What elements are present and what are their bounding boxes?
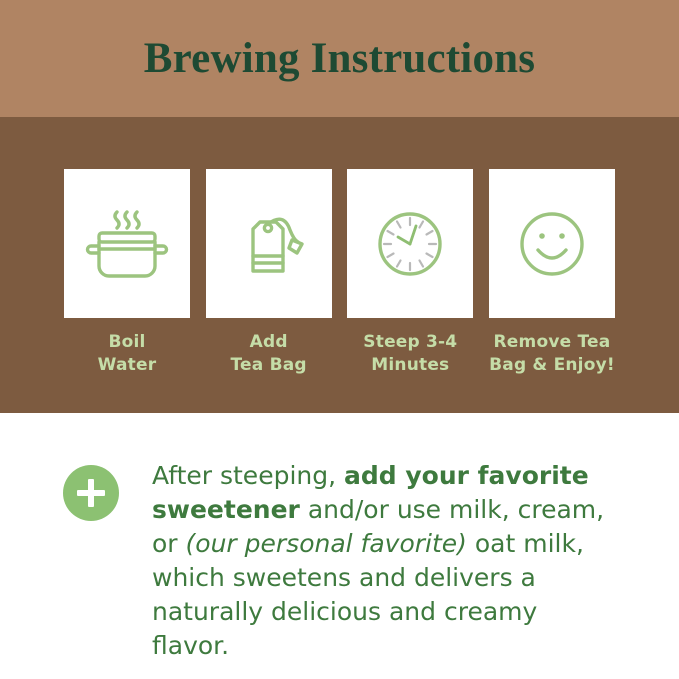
steps-section: Boil Water <box>0 117 679 413</box>
boiling-pot-icon <box>81 198 173 290</box>
smiley-face-icon <box>506 198 598 290</box>
brewing-instructions-page: Brewing Instructions <box>0 0 679 679</box>
plus-circle-icon <box>63 465 119 521</box>
step-label: Boil Water <box>98 331 157 376</box>
step-card-add-tea-bag <box>206 169 332 318</box>
step-card-steep <box>347 169 473 318</box>
step-label: Steep 3-4 Minutes <box>363 331 457 376</box>
steps-row: Boil Water <box>64 169 615 376</box>
step-add-tea-bag: Add Tea Bag <box>206 169 332 376</box>
step-remove-enjoy: Remove Tea Bag & Enjoy! <box>489 169 615 376</box>
clock-icon <box>364 198 456 290</box>
tea-bag-icon <box>223 198 315 290</box>
step-label: Remove Tea Bag & Enjoy! <box>489 331 615 376</box>
step-card-boil-water <box>64 169 190 318</box>
step-steep: Steep 3-4 Minutes <box>347 169 473 376</box>
step-label: Add Tea Bag <box>231 331 307 376</box>
note-text: After steeping, add your favorite sweete… <box>152 459 622 663</box>
note-section: After steeping, add your favorite sweete… <box>0 413 679 679</box>
step-card-remove-enjoy <box>489 169 615 318</box>
note-text-segment: (our personal favorite) <box>186 529 467 558</box>
header-band: Brewing Instructions <box>0 0 679 117</box>
step-boil-water: Boil Water <box>64 169 190 376</box>
page-title: Brewing Instructions <box>144 37 535 80</box>
note-inner: After steeping, add your favorite sweete… <box>63 459 622 663</box>
note-text-segment: After steeping, <box>152 461 344 490</box>
